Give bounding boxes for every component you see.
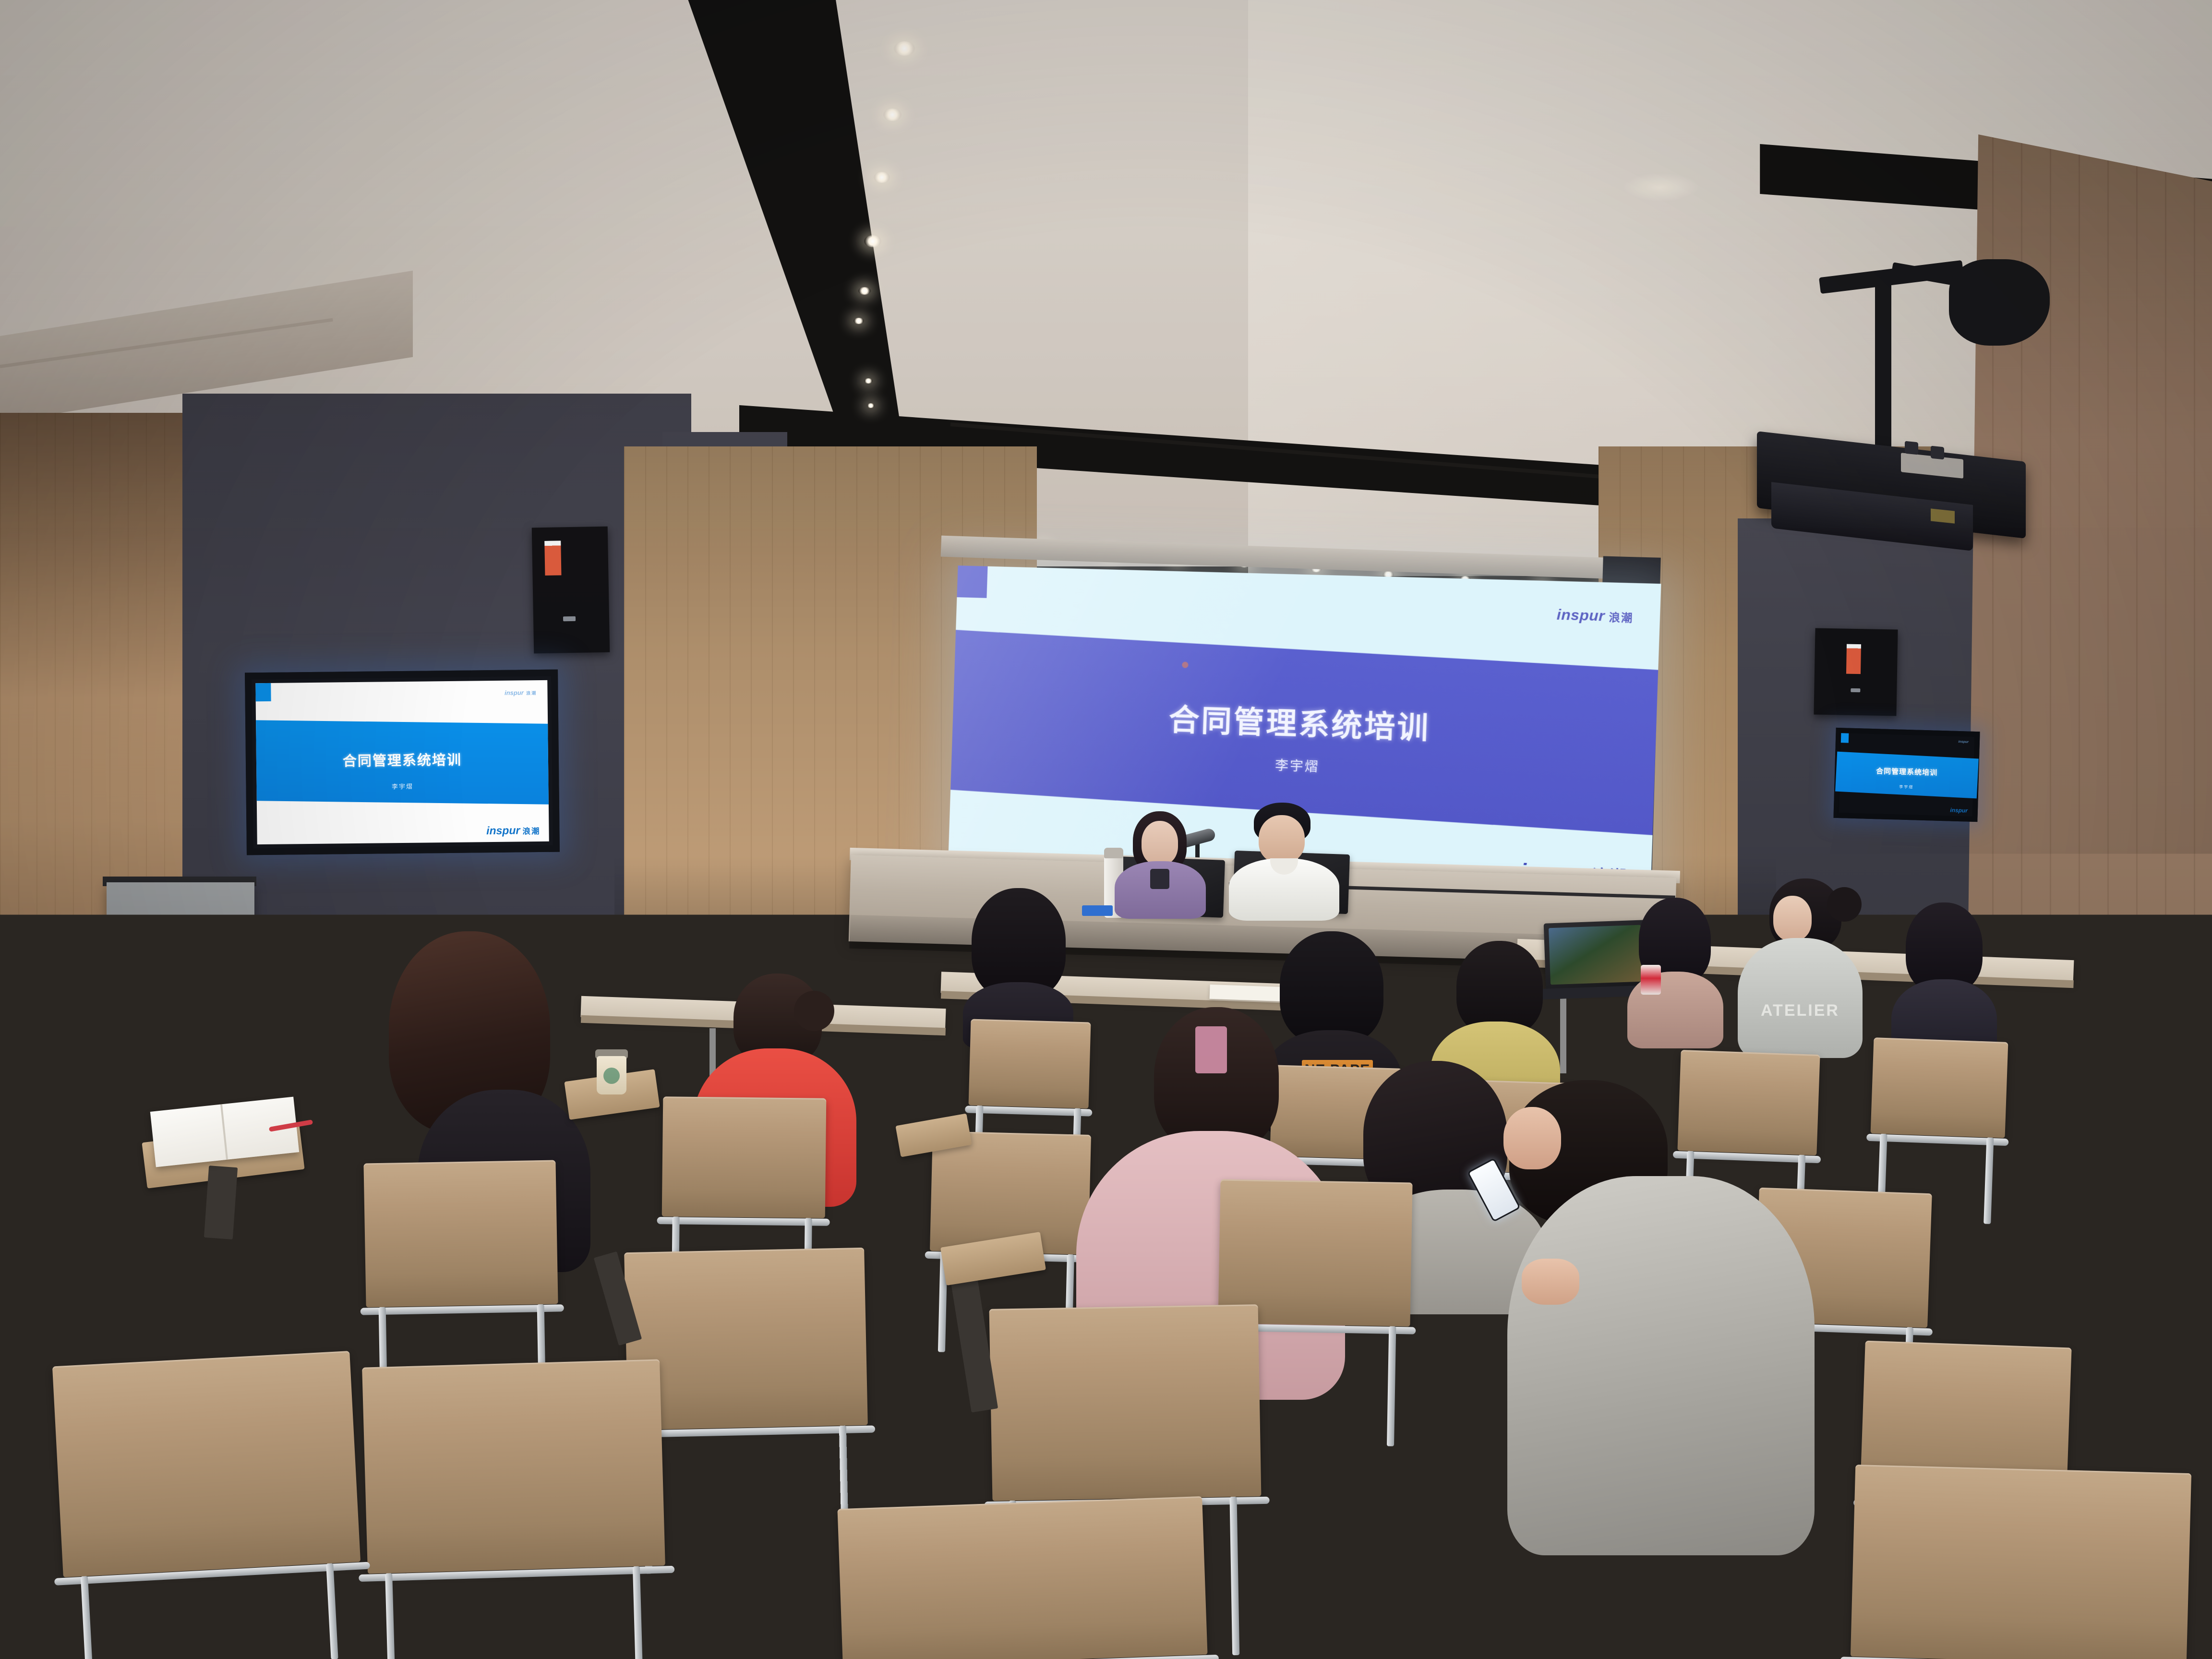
blue-card <box>1082 905 1113 916</box>
face <box>1259 815 1305 863</box>
ceiling-downlight <box>864 235 881 247</box>
ceiling-downlight <box>874 172 890 183</box>
chair[interactable] <box>363 1160 558 1308</box>
face <box>1773 896 1812 941</box>
chair-back <box>662 1096 827 1218</box>
attendee-03 <box>963 888 1073 1042</box>
table-leg <box>2011 998 2018 1089</box>
chair[interactable] <box>362 1359 665 1574</box>
slide-logo-top: inspur浪潮 <box>1556 607 1634 625</box>
logo-latin: inspur <box>486 824 520 837</box>
speaker-brand-badge <box>563 616 576 621</box>
drink-can <box>1641 965 1661 995</box>
slide-decorative-dot <box>1182 661 1189 668</box>
attendee-07 <box>1450 1080 1815 1551</box>
attendee-10 <box>1891 902 1997 1061</box>
hair <box>1456 941 1543 1035</box>
chair[interactable] <box>969 1019 1091 1109</box>
ceiling-cable-tray <box>1949 259 2050 346</box>
ceiling-downlight <box>883 108 902 121</box>
tablet-arm-post <box>204 1166 238 1239</box>
chair-back <box>362 1359 665 1574</box>
chair[interactable] <box>989 1304 1262 1501</box>
coffee-cup-logo <box>603 1068 620 1084</box>
presenter-woman <box>1115 811 1206 912</box>
ceiling-downlight <box>867 403 875 408</box>
slide-title: 合同管理系统培训 <box>256 748 548 771</box>
slide-logo-top: inspur <box>1958 740 1969 744</box>
logo-latin: inspur <box>505 689 524 696</box>
torso <box>1738 938 1863 1058</box>
speaker-label <box>544 541 561 576</box>
left-wall-monitor[interactable]: inspur浪潮 合同管理系统培训 李宇熠 inspur浪潮 <box>245 670 560 855</box>
speaker-label <box>1846 644 1861 674</box>
chair-back <box>969 1019 1091 1109</box>
speaker-brand-badge <box>1851 688 1860 692</box>
jacket-graphic-text: ATELIER <box>1738 1001 1863 1020</box>
projector-knob <box>1905 441 1918 455</box>
ceiling-downlight <box>854 318 864 324</box>
hair-bun <box>794 991 834 1031</box>
slide-corner-accent <box>957 565 987 598</box>
right-monitor-slide: inspur 合同管理系统培训 李宇熠 inspur <box>1841 733 1974 737</box>
right-wall-monitor[interactable]: inspur 合同管理系统培训 李宇熠 inspur <box>1833 728 1980 822</box>
chair[interactable] <box>1851 1465 2191 1659</box>
attendee-09: ATELIER <box>1738 878 1863 1056</box>
slide-logo-bottom: inspur <box>1950 807 1968 814</box>
slide-logo-top: inspur浪潮 <box>505 689 537 697</box>
torso <box>1507 1176 1815 1555</box>
ceiling-light-glow <box>1623 173 1699 202</box>
chair-back <box>989 1304 1262 1501</box>
slide-logo-top-cn: 浪潮 <box>1609 611 1634 624</box>
hand <box>1522 1259 1579 1305</box>
logo-cn: 浪潮 <box>522 827 540 836</box>
face <box>1142 821 1178 865</box>
ceiling-downlight <box>858 287 871 295</box>
presenter-man <box>1229 803 1339 913</box>
projector-knob <box>1931 446 1944 460</box>
ceiling-downlight <box>864 378 873 384</box>
logo-latin: inspur <box>1958 740 1969 744</box>
chair[interactable] <box>662 1096 827 1218</box>
chair-back <box>1871 1037 2008 1138</box>
notebook-spine <box>220 1104 228 1160</box>
gray-lectern <box>107 882 254 1050</box>
projector-drop-pole <box>1875 278 1891 451</box>
chair[interactable] <box>1871 1037 2008 1138</box>
chair[interactable] <box>52 1351 361 1577</box>
logo-cn: 浪潮 <box>526 691 537 696</box>
chair-back <box>363 1160 558 1308</box>
hair-clip <box>1195 1026 1227 1073</box>
slide-corner-accent <box>1841 733 1849 743</box>
conference-room-scene: inspur浪潮 合同管理系统培训 李宇熠 inspur浪潮 inspur浪潮 … <box>0 0 2212 1659</box>
left-monitor-slide: inspur浪潮 合同管理系统培训 李宇熠 inspur浪潮 <box>255 680 549 844</box>
chair-back <box>52 1351 361 1577</box>
wall-speaker-left <box>532 527 610 654</box>
hair-bun <box>1827 887 1862 922</box>
slide-logo-bottom: inspur浪潮 <box>486 824 541 837</box>
chair[interactable] <box>837 1496 1207 1659</box>
face <box>1503 1107 1561 1169</box>
logo-latin: inspur <box>1950 807 1968 814</box>
chair-back <box>837 1496 1207 1659</box>
projector-indicator-light <box>1931 508 1955 523</box>
ceiling-downlight <box>894 41 915 56</box>
wall-speaker-right <box>1814 628 1898 716</box>
slide-corner-accent <box>255 683 271 701</box>
chair-back <box>1851 1465 2191 1659</box>
slide-logo-top-latin: inspur <box>1556 607 1605 625</box>
lanyard <box>1150 869 1169 889</box>
